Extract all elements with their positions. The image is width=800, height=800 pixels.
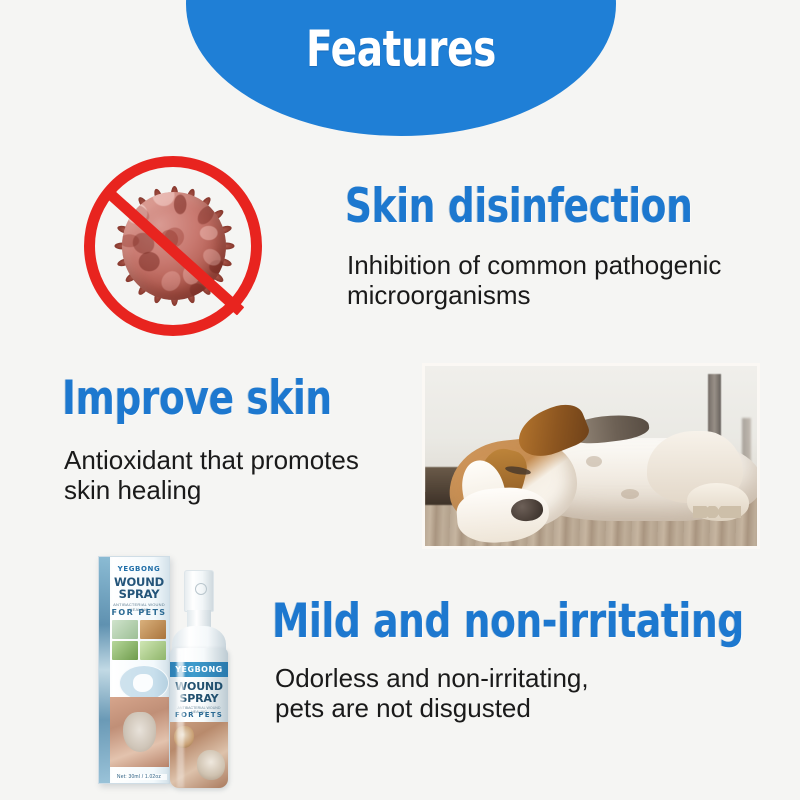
ingredient-thumb-1: [112, 620, 138, 639]
carton-application-photo: [110, 697, 169, 767]
feature-body-improve-skin: Antioxidant that promotes skin healing: [64, 445, 424, 505]
product-photo: YEGBONG WOUND SPRAY ANTIBACTERIAL WOUND …: [90, 548, 270, 792]
page-title: Features: [233, 22, 568, 76]
header-banner: Features: [186, 0, 616, 136]
feature-body-skin-disinfection: Inhibition of common pathogenic microorg…: [347, 250, 787, 310]
feature-heading-improve-skin: Improve skin: [62, 375, 332, 423]
feature-body-mild-non-irritating: Odorless and non-irritating, pets are no…: [275, 663, 745, 723]
no-microbe-icon: [78, 152, 268, 348]
feature-heading-mild-non-irritating: Mild and non-irritating: [272, 598, 744, 646]
product-bottle: YEGBONG WOUND SPRAY ANTIBACTERIAL WOUND …: [168, 570, 230, 788]
features-page: Features Skin disin: [0, 0, 800, 800]
carton-brand: YEGBONG: [111, 565, 167, 573]
sleeping-dog-photo: [425, 366, 757, 546]
ingredient-thumb-4: [140, 641, 166, 660]
carton-audience: FOR PETS: [111, 608, 167, 617]
feature-heading-skin-disinfection: Skin disinfection: [345, 183, 692, 231]
bottle-highlight: [177, 648, 184, 788]
dog-paw: [687, 483, 749, 521]
carton-net-content: Net: 30ml / 1.02oz: [111, 774, 167, 780]
ingredient-thumb-3: [112, 641, 138, 660]
carton-name-line2: SPRAY: [111, 588, 167, 600]
bottle-cap: [184, 570, 214, 612]
carton-pet-badge-icon: [119, 665, 169, 701]
bottle-body: YEGBONG WOUND SPRAY ANTIBACTERIAL WOUND …: [170, 648, 228, 788]
carton-ingredient-thumbnails: [112, 620, 166, 660]
carton-side-panel: [99, 557, 110, 783]
product-carton: YEGBONG WOUND SPRAY ANTIBACTERIAL WOUND …: [98, 556, 170, 784]
carton-product-name: WOUND SPRAY: [111, 576, 167, 600]
ingredient-thumb-2: [140, 620, 166, 639]
